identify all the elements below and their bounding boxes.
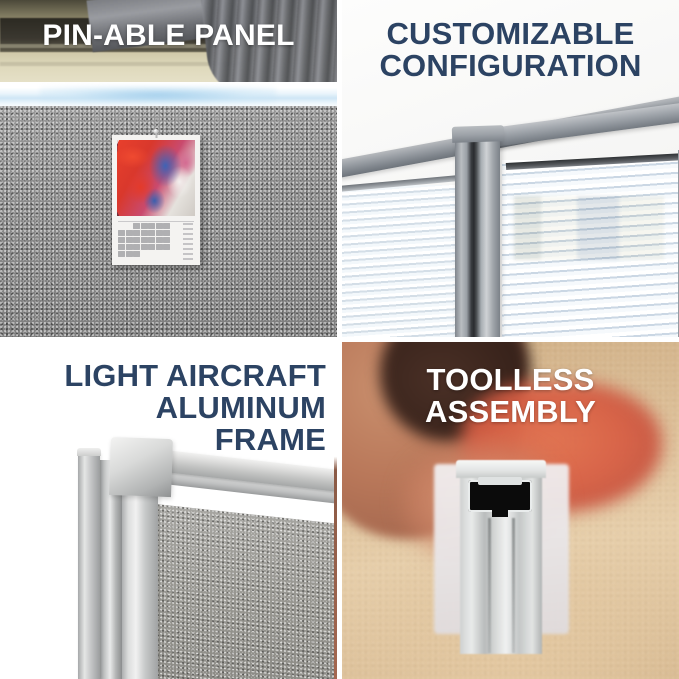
push-pin-icon — [153, 129, 160, 138]
calendar-rule — [118, 221, 194, 222]
extrusion-rib — [488, 518, 491, 653]
caption-light-aircraft-aluminum-frame: LIGHT AIRCRAFT ALUMINUM FRAME — [10, 360, 326, 457]
light-glow — [40, 86, 276, 104]
panel-toolless-assembly: TOOLLESS ASSEMBLY — [342, 342, 679, 679]
panel-pin-able-panel: PIN-ABLE PANEL — [0, 0, 337, 337]
ceiling-beam — [0, 62, 243, 66]
artwork-brushstrokes — [117, 140, 195, 216]
calendar-month-label — [183, 223, 193, 261]
caption-pin-able-panel: PIN-ABLE PANEL — [0, 20, 337, 51]
extrusion-slot-lip — [478, 477, 522, 485]
calendar-artwork — [117, 140, 195, 216]
window-view-blur — [514, 196, 664, 260]
pinned-calendar — [112, 135, 200, 265]
corner-post — [455, 130, 500, 337]
feature-collage: PIN-ABLE PANEL CUSTOMIZABLE CONFIGURATIO… — [0, 0, 679, 679]
panel-light-aircraft-aluminum-frame: LIGHT AIRCRAFT ALUMINUM FRAME — [0, 342, 337, 679]
corner-post-cap — [452, 125, 505, 143]
caption-customizable-configuration: CUSTOMIZABLE CONFIGURATION — [348, 18, 673, 82]
extrusion-top-face — [456, 460, 546, 478]
glass-panel-left — [342, 185, 462, 337]
calendar-grid — [118, 223, 170, 257]
extrusion-rib — [512, 518, 515, 653]
caption-toolless-assembly: TOOLLESS ASSEMBLY — [350, 364, 671, 428]
extrusion-slot-notch — [492, 505, 508, 517]
panel-customizable-configuration: CUSTOMIZABLE CONFIGURATION — [342, 0, 679, 337]
panel-right-edge — [334, 342, 337, 679]
aluminum-post-front — [120, 476, 158, 679]
aluminum-post-back — [78, 452, 100, 679]
